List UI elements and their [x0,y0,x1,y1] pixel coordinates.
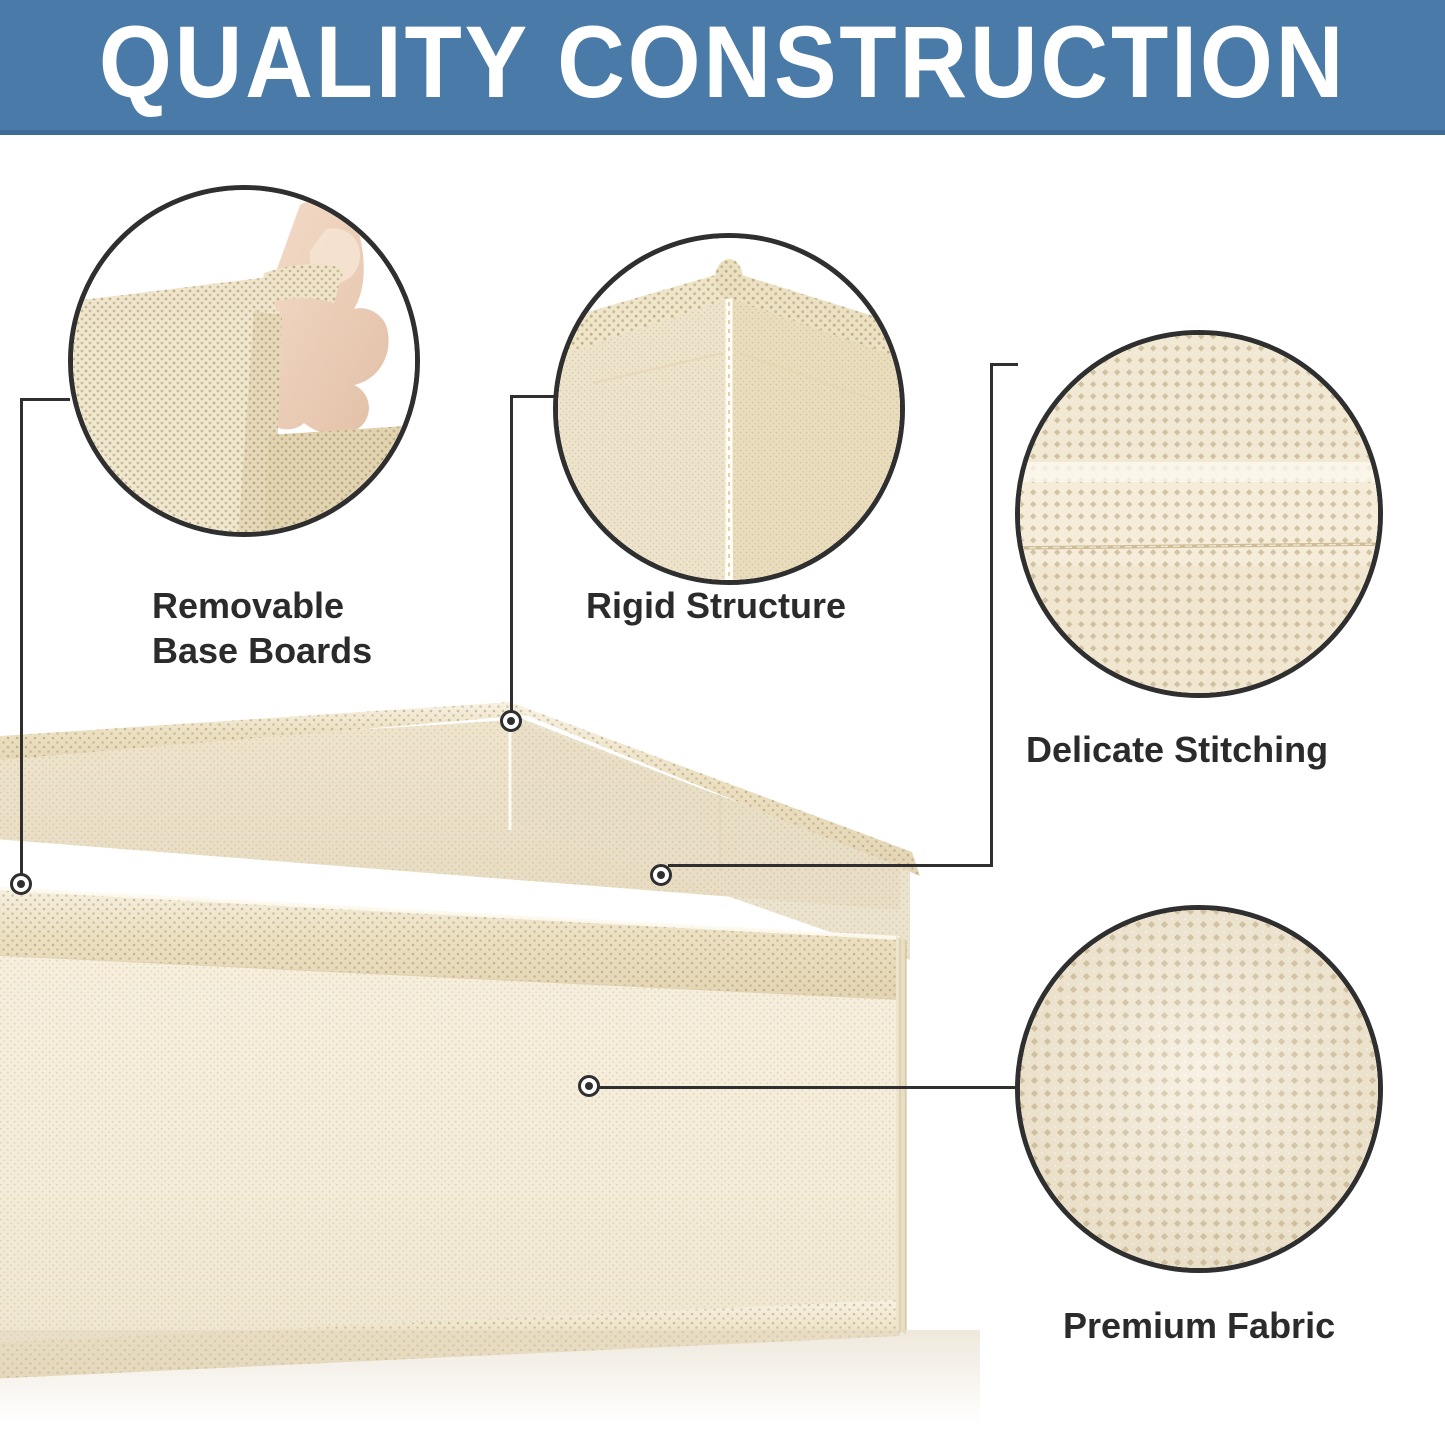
leader-line-delicate-stitching-v [990,363,993,867]
banner-underline [0,130,1445,135]
leader-line-removable-base-boards-v [20,398,23,884]
callout-circle-removable-base-boards [68,185,420,537]
leader-line-rigid-structure-v [510,395,513,721]
product-image-storage-bin [0,700,940,1400]
detail-photo-fabric-weave [1020,910,1378,1268]
storage-bin-illustration [0,700,940,1400]
callout-label-rigid-structure: Rigid Structure [586,583,846,628]
leader-line-delicate-stitching-h1 [990,363,1018,366]
detail-photo-corner-seam [558,238,900,580]
leader-dot-delicate-stitching [650,864,672,886]
leader-line-rigid-structure-h [510,395,558,398]
detail-photo-base-board [73,190,415,532]
callout-label-delicate-stitching: Delicate Stitching [1026,727,1328,772]
page-title: QUALITY CONSTRUCTION [58,0,1387,130]
floor-reflection [0,1330,980,1445]
callout-label-premium-fabric: Premium Fabric [1063,1303,1335,1348]
leader-dot-removable-base-boards [10,873,32,895]
callout-circle-rigid-structure [553,233,905,585]
callout-circle-premium-fabric [1015,905,1383,1273]
leader-line-delicate-stitching-h2 [668,864,993,867]
callout-label-removable-base-boards: Removable Base Boards [152,583,372,673]
leader-dot-premium-fabric [578,1075,600,1097]
leader-line-removable-base-boards-h [20,398,70,401]
header-banner: QUALITY CONSTRUCTION [0,0,1445,130]
leader-dot-rigid-structure [500,710,522,732]
leader-line-premium-fabric [598,1086,1018,1089]
callout-circle-delicate-stitching [1015,330,1383,698]
infographic-page: QUALITY CONSTRUCTION [0,0,1445,1445]
detail-photo-stitching [1020,335,1378,693]
